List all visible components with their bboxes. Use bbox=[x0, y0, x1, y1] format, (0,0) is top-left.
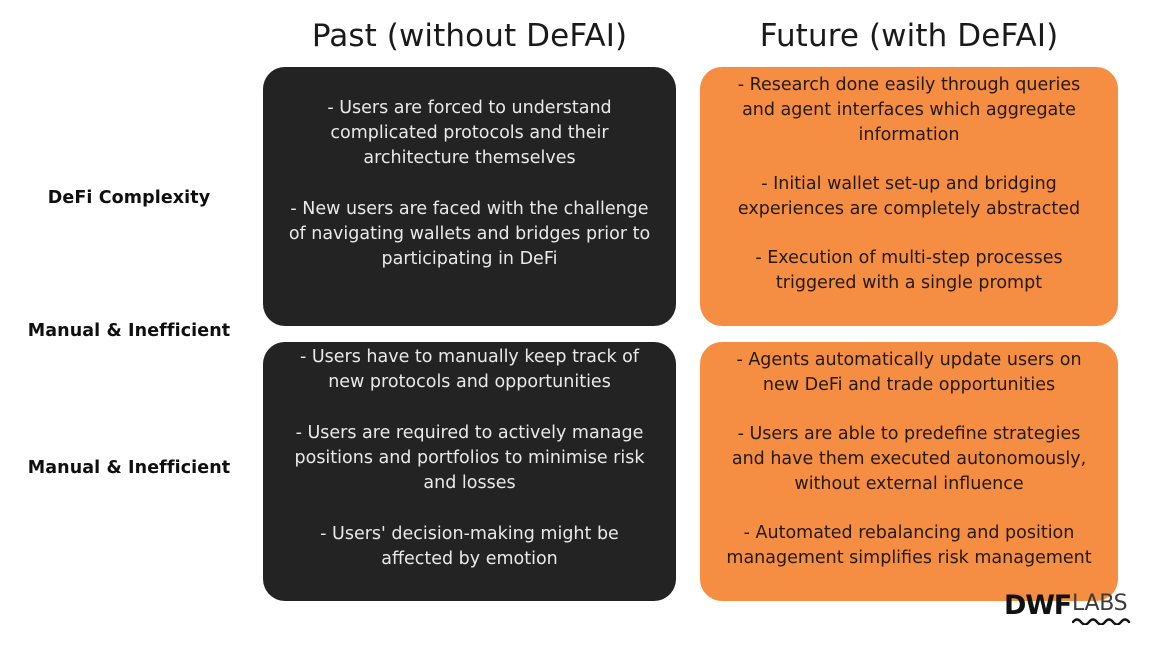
logo-labs-group: LABS bbox=[1072, 593, 1134, 625]
bullet-item: - Users' decision-making might be affect… bbox=[281, 522, 658, 572]
bullet-item: - Users are required to actively manage … bbox=[281, 421, 658, 496]
card-future-defi-complexity: - Research done easily through queries a… bbox=[700, 67, 1118, 326]
bullet-item: - Automated rebalancing and position man… bbox=[718, 521, 1100, 571]
column-header-past: Past (without DeFAI) bbox=[263, 16, 676, 56]
bullet-item: - Users are forced to understand complic… bbox=[281, 96, 658, 171]
column-header-future: Future (with DeFAI) bbox=[700, 16, 1118, 56]
bullet-item: - Agents automatically update users on n… bbox=[718, 348, 1100, 398]
bullet-item: - Users have to manually keep track of n… bbox=[281, 345, 658, 395]
row-label-manual-inefficient-top: Manual & Inefficient bbox=[0, 320, 258, 342]
comparison-slide: Past (without DeFAI) Future (with DeFAI)… bbox=[0, 0, 1152, 648]
card-past-manual-inefficient: - Users have to manually keep track of n… bbox=[263, 342, 676, 601]
bullet-item: - New users are faced with the challenge… bbox=[281, 197, 658, 272]
card-future-manual-inefficient: - Agents automatically update users on n… bbox=[700, 342, 1118, 601]
card-past-defi-complexity: - Users are forced to understand complic… bbox=[263, 67, 676, 326]
wave-icon bbox=[1072, 616, 1134, 625]
dwf-labs-logo: DWF LABS bbox=[1004, 592, 1134, 632]
bullet-item: - Users are able to predefine strategies… bbox=[718, 422, 1100, 497]
row-label-manual-inefficient-bottom: Manual & Inefficient bbox=[0, 457, 258, 479]
logo-wordmark-labs: LABS bbox=[1072, 593, 1127, 615]
bullet-item: - Initial wallet set-up and bridging exp… bbox=[718, 172, 1100, 222]
row-label-defi-complexity: DeFi Complexity bbox=[0, 187, 258, 209]
bullet-item: - Execution of multi-step processes trig… bbox=[718, 246, 1100, 296]
bullet-item: - Research done easily through queries a… bbox=[718, 73, 1100, 148]
logo-mark-dwf: DWF bbox=[1004, 592, 1071, 619]
